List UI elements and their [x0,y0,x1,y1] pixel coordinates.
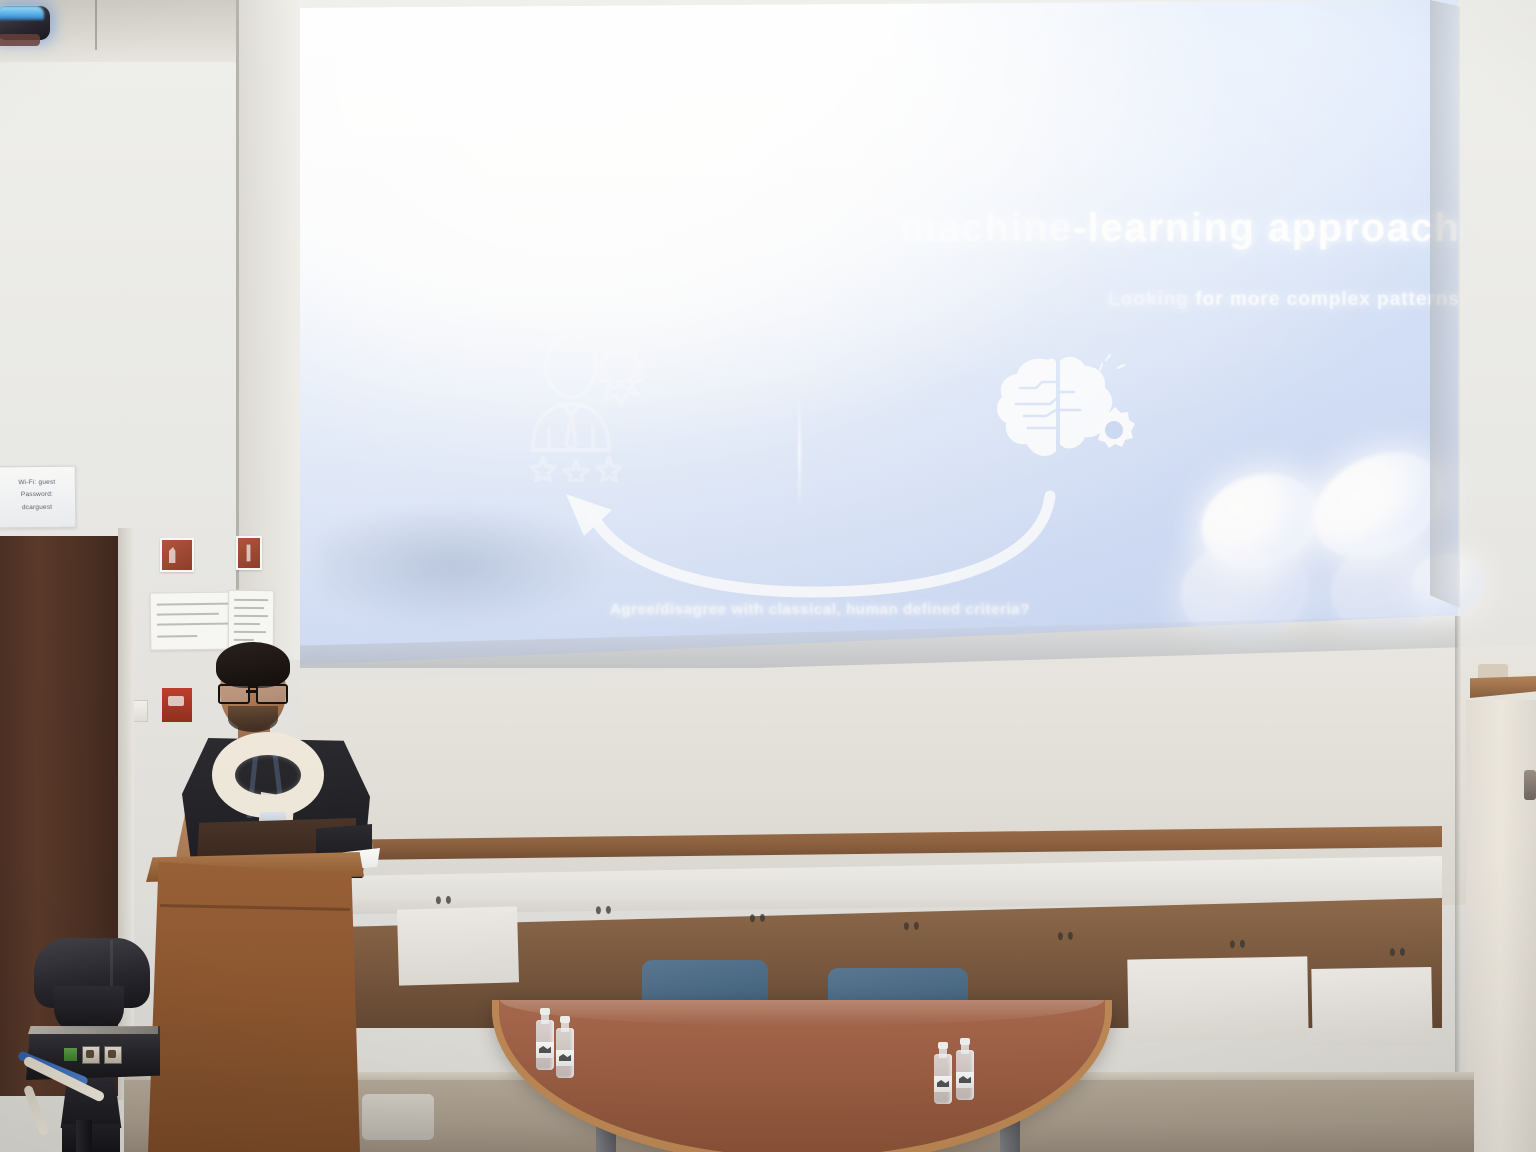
slide-title: machine-learning approach [840,206,1460,251]
wifi-guest-sign: Wi-Fi: guest Password: dcarguest [0,466,76,529]
power-outlet [1388,948,1408,962]
fire-equipment-sign-icon [236,536,262,570]
lecture-hall-photo: machine-learning approach Looking for mo… [0,0,1536,1152]
wifi-ssid-line: Wi-Fi: guest [5,477,69,490]
power-outlet [1228,940,1248,954]
scarf-loop [212,732,324,818]
bottle-label [956,1072,974,1088]
power-outlet [1056,932,1076,946]
projection-screen: machine-learning approach Looking for mo… [300,0,1458,665]
water-bottle[interactable] [934,1042,952,1104]
white-power-cable [23,1085,49,1137]
fire-extinguisher-sign-icon [160,538,194,572]
power-outlet [748,914,768,928]
glasses-lens-right [256,684,288,704]
wall-panel [1311,967,1432,1047]
camera-status-led [64,1048,77,1061]
room-door-right[interactable] [1466,700,1536,1152]
water-bottle[interactable] [556,1016,574,1078]
bottle-label [934,1076,952,1092]
slide-subtitle: Looking for more complex patterns [860,289,1460,311]
camera-top-strip [28,1026,158,1034]
water-bottle[interactable] [536,1008,554,1070]
presenter-hair [216,642,290,688]
power-outlet [902,922,922,936]
screen-right-edge [1430,0,1460,640]
water-bottle[interactable] [956,1038,974,1100]
wall-panel [1127,956,1308,1041]
brain-gear-ai-icon [990,352,1140,470]
ceiling-speaker-light-icon [0,6,50,40]
power-outlet [434,896,454,910]
blue-glow [0,6,44,20]
wifi-password-line: Password: dcarguest [5,489,69,514]
device-base [0,34,40,46]
tripod-pole [76,1120,92,1152]
glasses-bridge [246,690,256,693]
camera-port[interactable] [104,1046,122,1064]
power-outlet [594,906,614,920]
camera-port[interactable] [82,1046,100,1064]
bottle-label [536,1042,554,1058]
slide-subtitle-dim: Looking [1108,289,1189,310]
floor-object-bag [362,1094,434,1140]
curved-arrow-left-icon [550,488,1070,603]
slide-title-bright: -learning approach [1073,206,1460,250]
wall-panel [397,906,519,985]
bottle-label [556,1050,574,1066]
presenter-beard [228,706,278,732]
door-handle-icon[interactable] [1524,770,1536,800]
eyeglasses-icon [218,684,288,700]
slide-caption: Agree/disagree with classical, human def… [540,601,1100,618]
glasses-lens-left [218,684,250,704]
ceiling-seam [95,0,97,50]
slide-subtitle-bright: for more complex patterns [1189,289,1460,310]
slide-title-dim: machine [900,206,1073,250]
expert-person-badge-stars-icon [525,332,645,482]
